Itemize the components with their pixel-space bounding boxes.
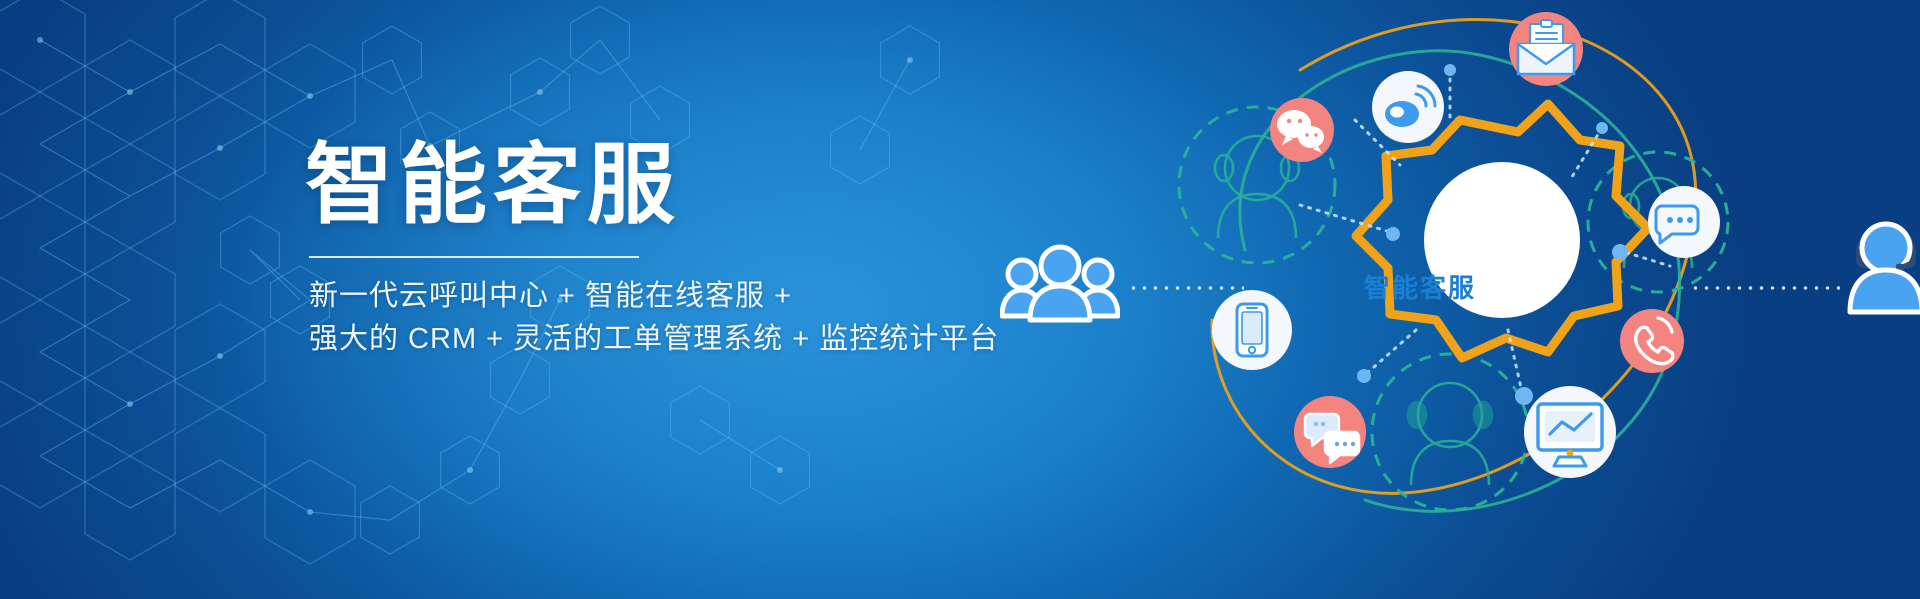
subtitle-line-1: 新一代云呼叫中心 + 智能在线客服 + bbox=[309, 276, 1005, 317]
subtitle-line-2: 强大的 CRM + 灵活的工单管理系统 + 监控统计平台 bbox=[309, 319, 1005, 360]
messages-icon bbox=[1294, 396, 1366, 468]
page-title: 智能客服 bbox=[305, 140, 1005, 230]
wechat-icon bbox=[1270, 98, 1334, 162]
banner-text-block: 智能客服 新一代云呼叫中心 + 智能在线客服 + 强大的 CRM + 灵活的工单… bbox=[305, 140, 1005, 362]
center-label: 智能客服 bbox=[1330, 268, 1510, 305]
chat-bubble-icon bbox=[1648, 186, 1720, 258]
users-group-icon bbox=[1000, 240, 1120, 330]
email-icon bbox=[1509, 12, 1583, 86]
headset-agent-icon bbox=[1838, 196, 1920, 316]
mobile-phone-icon bbox=[1212, 290, 1292, 370]
weibo-icon bbox=[1372, 71, 1444, 143]
hero-banner: 智能客服 新一代云呼叫中心 + 智能在线客服 + 强大的 CRM + 灵活的工单… bbox=[0, 0, 1920, 599]
phone-call-icon bbox=[1620, 309, 1684, 373]
monitor-analytics-icon bbox=[1524, 386, 1616, 478]
title-divider bbox=[309, 256, 639, 258]
